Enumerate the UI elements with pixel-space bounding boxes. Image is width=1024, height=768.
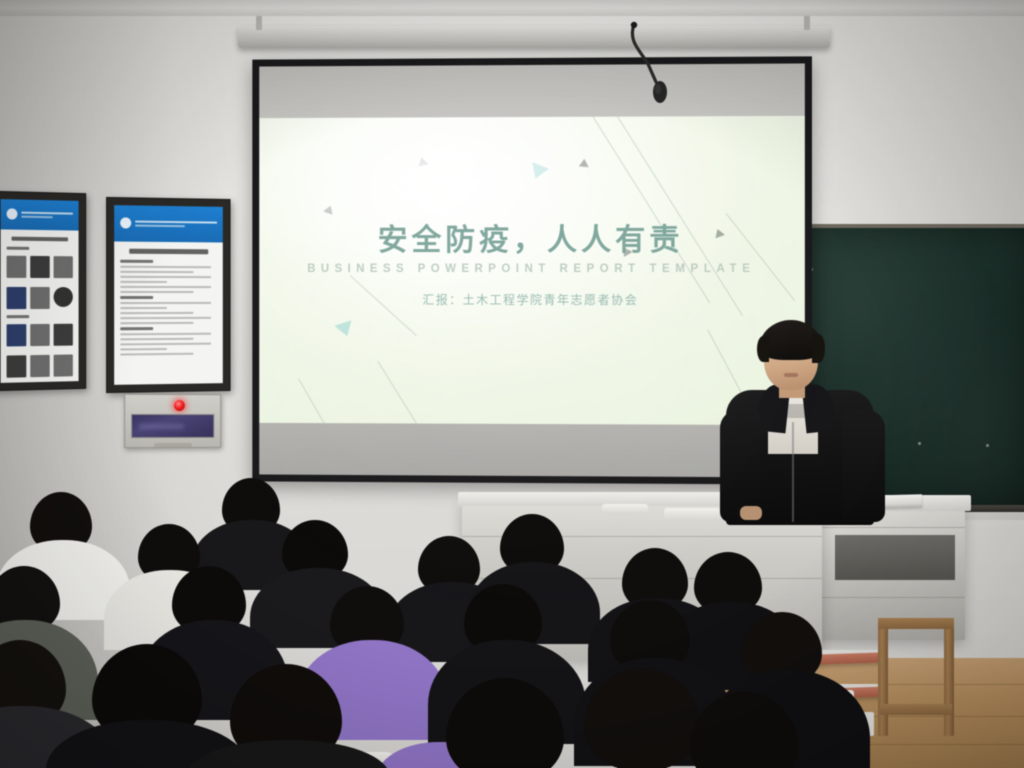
wooden-stool <box>878 618 954 738</box>
wall-poster-left <box>0 191 86 391</box>
screen-bracket <box>256 16 262 30</box>
gooseneck-microphone <box>626 20 696 110</box>
podium-item <box>602 504 648 514</box>
poster-title <box>12 236 68 241</box>
screen-top-band <box>259 63 805 118</box>
presenter-zipper <box>792 422 794 522</box>
presenter-hand <box>740 506 762 520</box>
classroom-photo-scene: 安全防疫，人人有责 BUSINESS POWERPOINT REPORT TEM… <box>0 0 1024 768</box>
presenter-arm <box>843 410 885 522</box>
presenter-hair <box>759 320 823 360</box>
poster-logo-icon <box>120 218 131 229</box>
wall-poster-right <box>106 197 230 393</box>
slide-text-block: 安全防疫，人人有责 BUSINESS POWERPOINT REPORT TEM… <box>259 215 805 309</box>
slide-title: 安全防疫，人人有责 <box>259 215 805 259</box>
slide-presenter-line: 汇报：土木工程学院青年志愿者协会 <box>259 291 805 308</box>
slide-subtitle: BUSINESS POWERPOINT REPORT TEMPLATE <box>259 263 805 275</box>
screen-bracket <box>804 16 810 30</box>
poster-header <box>1 199 79 230</box>
wall-control-panel[interactable] <box>124 394 221 448</box>
control-panel-display <box>131 414 214 438</box>
desk-recess <box>835 535 955 580</box>
presenter-mouth <box>784 373 798 377</box>
poster-header <box>114 205 223 242</box>
poster-title <box>130 248 208 254</box>
podium-item <box>664 508 720 520</box>
projector-screen-housing <box>238 26 830 48</box>
presenter-speaker <box>712 318 887 523</box>
power-led-icon <box>174 400 185 411</box>
poster-logo-icon <box>7 209 18 220</box>
